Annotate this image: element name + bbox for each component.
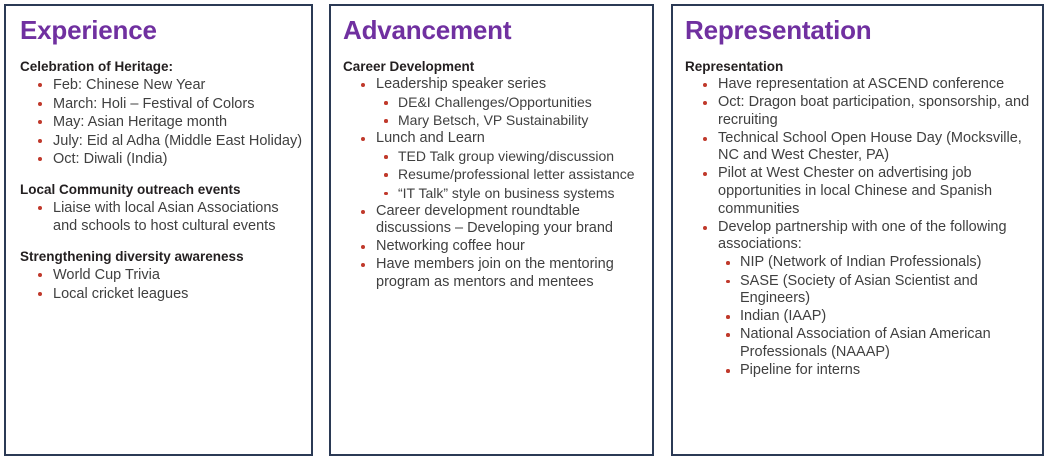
bullet-item: May: Asian Heritage month [36,113,305,131]
bullet-list: Leadership speaker seriesDE&I Challenges… [343,76,646,292]
section: Celebration of Heritage:Feb: Chinese New… [20,58,305,168]
panel-representation: Representation RepresentationHave repres… [671,4,1044,456]
bullet-item: Have representation at ASCEND conference [701,76,1036,94]
sub-bullet-dot-icon [726,261,730,265]
sub-bullet-item: DE&I Challenges/Opportunities [381,94,646,112]
bullet-dot-icon [361,263,365,267]
bullet-text: National Association of Asian American P… [740,326,1036,361]
bullet-text: Lunch and Learn [376,130,646,148]
panel-advancement-sections: Career DevelopmentLeadership speaker ser… [343,58,646,292]
section-heading: Representation [685,58,1036,75]
section: Strengthening diversity awarenessWorld C… [20,248,305,303]
slide-canvas: Experience Celebration of Heritage:Feb: … [0,0,1050,463]
sub-bullet-dot-icon [726,315,730,319]
sub-bullet-list: DE&I Challenges/OpportunitiesMary Betsch… [359,94,646,130]
bullet-dot-icon [361,245,365,249]
bullet-dot-icon [703,226,707,230]
bullet-item: July: Eid al Adha (Middle East Holiday) [36,132,305,150]
sub-bullet-item: Resume/professional letter assistance [381,166,646,184]
section: Local Community outreach eventsLiaise wi… [20,181,305,235]
panel-representation-title: Representation [685,15,1036,45]
bullet-text: Resume/professional letter assistance [398,166,646,184]
bullet-dot-icon [703,101,707,105]
bullet-text: Feb: Chinese New Year [53,76,305,94]
bullet-text: July: Eid al Adha (Middle East Holiday) [53,132,305,150]
bullet-dot-icon [38,206,42,210]
bullet-text: Oct: Diwali (India) [53,150,305,168]
bullet-list: World Cup TriviaLocal cricket leagues [20,266,305,303]
bullet-item: Lunch and Learn [359,130,646,148]
bullet-dot-icon [38,83,42,87]
bullet-text: Oct: Dragon boat participation, sponsors… [718,94,1036,129]
bullet-item: Leadership speaker series [359,76,646,94]
bullet-dot-icon [703,172,707,176]
panel-experience-sections: Celebration of Heritage:Feb: Chinese New… [20,58,305,303]
bullet-text: World Cup Trivia [53,266,305,284]
bullet-item: World Cup Trivia [36,266,305,284]
bullet-text: Liaise with local Asian Associations and… [53,199,305,235]
sub-bullet-dot-icon [384,101,388,105]
sub-bullet-dot-icon [726,280,730,284]
bullet-item: Oct: Diwali (India) [36,150,305,168]
sub-bullet-item: National Association of Asian American P… [723,326,1036,361]
bullet-item: March: Holi – Festival of Colors [36,95,305,113]
sub-bullet-item: “IT Talk” style on business systems [381,185,646,203]
bullet-list: Have representation at ASCEND conference… [685,76,1036,380]
bullet-list: Feb: Chinese New YearMarch: Holi – Festi… [20,76,305,168]
bullet-dot-icon [38,120,42,124]
bullet-item: Networking coffee hour [359,238,646,256]
bullet-text: Mary Betsch, VP Sustainability [398,112,646,130]
sub-bullet-list: TED Talk group viewing/discussionResume/… [359,148,646,202]
sub-bullet-dot-icon [384,119,388,123]
sub-bullet-item: Mary Betsch, VP Sustainability [381,112,646,130]
bullet-item: Feb: Chinese New Year [36,76,305,94]
bullet-text: TED Talk group viewing/discussion [398,148,646,166]
panel-advancement-title: Advancement [343,15,646,45]
bullet-item: Local cricket leagues [36,285,305,303]
bullet-item: Liaise with local Asian Associations and… [36,199,305,235]
panel-experience-title: Experience [20,15,305,45]
section-heading: Career Development [343,58,646,75]
bullet-text: SASE (Society of Asian Scientist and Eng… [740,273,1036,308]
bullet-text: Local cricket leagues [53,285,305,303]
bullet-text: Have members join on the mentoring progr… [376,256,646,291]
bullet-text: March: Holi – Festival of Colors [53,95,305,113]
panel-experience: Experience Celebration of Heritage:Feb: … [4,4,313,456]
sub-bullet-item: NIP (Network of Indian Professionals) [723,254,1036,272]
bullet-dot-icon [38,139,42,143]
bullet-text: Indian (IAAP) [740,308,1036,326]
sub-bullet-dot-icon [384,155,388,159]
bullet-text: Networking coffee hour [376,238,646,256]
bullet-dot-icon [38,273,42,277]
bullet-text: NIP (Network of Indian Professionals) [740,254,1036,272]
bullet-text: May: Asian Heritage month [53,113,305,131]
bullet-text: Have representation at ASCEND conference [718,76,1036,94]
bullet-text: Leadership speaker series [376,76,646,94]
bullet-text: Career development roundtable discussion… [376,203,646,238]
bullet-text: “IT Talk” style on business systems [398,185,646,203]
sub-bullet-dot-icon [726,333,730,337]
bullet-text: Technical School Open House Day (Mocksvi… [718,130,1036,165]
bullet-dot-icon [38,102,42,106]
bullet-text: Pilot at West Chester on advertising job… [718,165,1036,218]
bullet-text: DE&I Challenges/Opportunities [398,94,646,112]
sub-bullet-dot-icon [384,192,388,196]
sub-bullet-dot-icon [384,173,388,177]
bullet-dot-icon [361,210,365,214]
bullet-dot-icon [361,83,365,87]
bullet-item: Oct: Dragon boat participation, sponsors… [701,94,1036,129]
bullet-dot-icon [38,292,42,296]
panel-experience-content: Experience Celebration of Heritage:Feb: … [6,6,311,303]
section-heading: Strengthening diversity awareness [20,248,305,265]
section-heading: Local Community outreach events [20,181,305,198]
sub-bullet-item: SASE (Society of Asian Scientist and Eng… [723,273,1036,308]
bullet-item: Technical School Open House Day (Mocksvi… [701,130,1036,165]
panel-advancement: Advancement Career DevelopmentLeadership… [329,4,654,456]
bullet-item: Have members join on the mentoring progr… [359,256,646,291]
bullet-list: Liaise with local Asian Associations and… [20,199,305,235]
section: RepresentationHave representation at ASC… [685,58,1036,380]
panel-advancement-content: Advancement Career DevelopmentLeadership… [331,6,652,292]
bullet-item: Career development roundtable discussion… [359,203,646,238]
sub-bullet-list: NIP (Network of Indian Professionals)SAS… [701,254,1036,379]
sub-bullet-item: TED Talk group viewing/discussion [381,148,646,166]
sub-bullet-dot-icon [726,369,730,373]
bullet-dot-icon [703,137,707,141]
bullet-dot-icon [38,157,42,161]
bullet-text: Develop partnership with one of the foll… [718,219,1036,254]
panel-representation-sections: RepresentationHave representation at ASC… [685,58,1036,380]
bullet-dot-icon [361,137,365,141]
section-heading: Celebration of Heritage: [20,58,305,75]
bullet-dot-icon [703,83,707,87]
bullet-item: Develop partnership with one of the foll… [701,219,1036,254]
bullet-text: Pipeline for interns [740,362,1036,380]
panel-representation-content: Representation RepresentationHave repres… [673,6,1042,380]
bullet-item: Pilot at West Chester on advertising job… [701,165,1036,218]
section: Career DevelopmentLeadership speaker ser… [343,58,646,292]
sub-bullet-item: Pipeline for interns [723,362,1036,380]
sub-bullet-item: Indian (IAAP) [723,308,1036,326]
